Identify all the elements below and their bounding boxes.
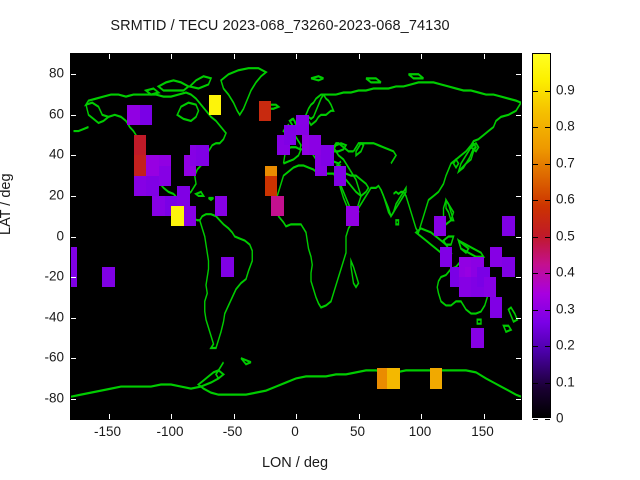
y-tick-mark — [516, 318, 521, 319]
heatmap-cell — [146, 155, 159, 175]
x-tick-label: -50 — [203, 424, 263, 439]
colorbar-tick-mark — [533, 91, 538, 92]
y-tick-mark — [516, 399, 521, 400]
heatmap-cell — [127, 105, 140, 125]
x-tick-label: -100 — [140, 424, 200, 439]
y-tick-mark — [71, 196, 76, 197]
y-tick-mark — [516, 358, 521, 359]
x-tick-mark — [171, 414, 172, 419]
colorbar-tick-mark — [545, 419, 550, 420]
y-tick-mark — [71, 237, 76, 238]
heatmap-cell — [284, 125, 297, 145]
y-tick-mark — [71, 318, 76, 319]
x-tick-label: -150 — [78, 424, 138, 439]
colorbar-tick-label: 0 — [556, 411, 564, 426]
colorbar-tick-mark — [533, 200, 538, 201]
y-tick-label: -80 — [18, 390, 64, 405]
y-tick-mark — [516, 196, 521, 197]
heatmap-cell — [334, 166, 347, 186]
heatmap-cell — [430, 368, 443, 388]
y-tick-label: 0 — [18, 228, 64, 243]
heatmap-cell — [490, 297, 503, 317]
x-tick-mark — [234, 54, 235, 59]
heatmap-cell — [209, 95, 222, 115]
heatmap-cell — [502, 216, 515, 236]
heatmap-cell — [387, 368, 400, 388]
y-tick-label: -60 — [18, 350, 64, 365]
heatmap-cell — [221, 257, 234, 277]
colorbar-tick-label: 0.3 — [556, 301, 575, 316]
colorbar-tick-mark — [533, 273, 538, 274]
heatmap-cell — [140, 105, 153, 125]
x-tick-mark — [296, 414, 297, 419]
colorbar-tick-label: 0.9 — [556, 82, 575, 97]
y-tick-label: 80 — [18, 66, 64, 81]
heatmap-cell — [134, 135, 147, 155]
y-tick-label: -20 — [18, 269, 64, 284]
heatmap-cell — [265, 176, 278, 196]
y-tick-label: 40 — [18, 147, 64, 162]
x-tick-mark — [421, 54, 422, 59]
colorbar-tick-mark — [545, 310, 550, 311]
y-tick-mark — [516, 155, 521, 156]
x-tick-mark — [484, 54, 485, 59]
colorbar-tick-mark — [533, 237, 538, 238]
colorbar-tick-mark — [545, 91, 550, 92]
x-tick-mark — [109, 414, 110, 419]
x-tick-mark — [234, 414, 235, 419]
heatmap-cell — [434, 216, 447, 236]
colorbar[interactable] — [532, 53, 551, 418]
colorbar-tick-label: 0.4 — [556, 265, 575, 280]
colorbar-tick-mark — [533, 310, 538, 311]
heatmap-cell — [502, 257, 515, 277]
x-tick-mark — [359, 54, 360, 59]
colorbar-tick-mark — [545, 383, 550, 384]
figure-container: SRMTID / TECU 2023-068_73260-2023-068_74… — [0, 0, 640, 480]
colorbar-tick-labels: 00.10.20.30.40.50.60.70.80.9 — [556, 53, 606, 418]
y-tick-label: 20 — [18, 187, 64, 202]
y-tick-mark — [71, 74, 76, 75]
colorbar-tick-label: 0.2 — [556, 338, 575, 353]
colorbar-tick-mark — [533, 346, 538, 347]
x-tick-mark — [359, 414, 360, 419]
heatmap-cell — [134, 155, 147, 175]
colorbar-tick-mark — [533, 127, 538, 128]
x-tick-label: 150 — [453, 424, 513, 439]
heatmap-cell — [146, 176, 159, 196]
y-tick-mark — [71, 399, 76, 400]
heatmap-cell — [346, 206, 359, 226]
colorbar-tick-label: 0.1 — [556, 374, 575, 389]
y-tick-label: -40 — [18, 309, 64, 324]
colorbar-tick-mark — [545, 237, 550, 238]
heatmap-cell — [321, 145, 334, 165]
heatmap-cell — [309, 135, 322, 155]
colorbar-tick-label: 0.5 — [556, 228, 575, 243]
heatmap-cell — [159, 166, 172, 186]
colorbar-tick-label: 0.7 — [556, 155, 575, 170]
x-axis-label: LON / deg — [70, 455, 520, 471]
x-tick-label: 100 — [390, 424, 450, 439]
heatmap-cell — [177, 186, 190, 206]
heatmap-cell — [134, 176, 147, 196]
colorbar-tick-mark — [533, 383, 538, 384]
y-tick-mark — [516, 237, 521, 238]
heatmap-cell — [184, 206, 197, 226]
colorbar-tick-mark — [545, 127, 550, 128]
heatmap-cell — [296, 115, 309, 135]
heatmap-cell — [70, 247, 77, 267]
colorbar-tick-mark — [545, 164, 550, 165]
heatmap-cell — [440, 247, 453, 267]
y-tick-mark — [71, 115, 76, 116]
x-tick-mark — [171, 54, 172, 59]
x-tick-mark — [296, 54, 297, 59]
y-tick-mark — [516, 277, 521, 278]
x-axis-tick-labels: -150-100-50050100150 — [70, 424, 520, 444]
colorbar-tick-mark — [533, 419, 538, 420]
page-title: SRMTID / TECU 2023-068_73260-2023-068_74… — [0, 18, 560, 34]
y-tick-mark — [71, 277, 76, 278]
colorbar-tick-mark — [545, 200, 550, 201]
x-tick-mark — [484, 414, 485, 419]
x-tick-mark — [421, 414, 422, 419]
x-tick-mark — [109, 54, 110, 59]
y-tick-mark — [71, 155, 76, 156]
heatmap-cell — [490, 247, 503, 267]
heatmap-cell — [102, 267, 115, 287]
heatmap-cell — [471, 328, 484, 348]
heatmap-cell — [196, 145, 209, 165]
x-tick-label: 0 — [265, 424, 325, 439]
heatmap-cells-layer — [71, 54, 521, 419]
colorbar-tick-mark — [533, 164, 538, 165]
y-tick-mark — [516, 74, 521, 75]
y-tick-mark — [71, 358, 76, 359]
y-axis-label: LAT / deg — [0, 173, 14, 235]
heatmap-cell — [484, 277, 497, 297]
heatmap-plot-area[interactable] — [70, 53, 522, 420]
y-tick-label: 60 — [18, 106, 64, 121]
y-tick-mark — [516, 115, 521, 116]
heatmap-cell — [215, 196, 228, 216]
heatmap-cell — [271, 196, 284, 216]
y-axis-tick-labels: 806040200-20-40-60-80 — [16, 53, 64, 418]
heatmap-cell — [259, 101, 272, 121]
colorbar-tick-mark — [545, 273, 550, 274]
heatmap-cell — [459, 277, 472, 297]
x-tick-label: 50 — [328, 424, 388, 439]
colorbar-tick-mark — [545, 346, 550, 347]
colorbar-gradient — [533, 54, 550, 417]
heatmap-cell — [152, 196, 165, 216]
colorbar-tick-label: 0.8 — [556, 119, 575, 134]
heatmap-cell — [171, 206, 184, 226]
colorbar-tick-label: 0.6 — [556, 192, 575, 207]
